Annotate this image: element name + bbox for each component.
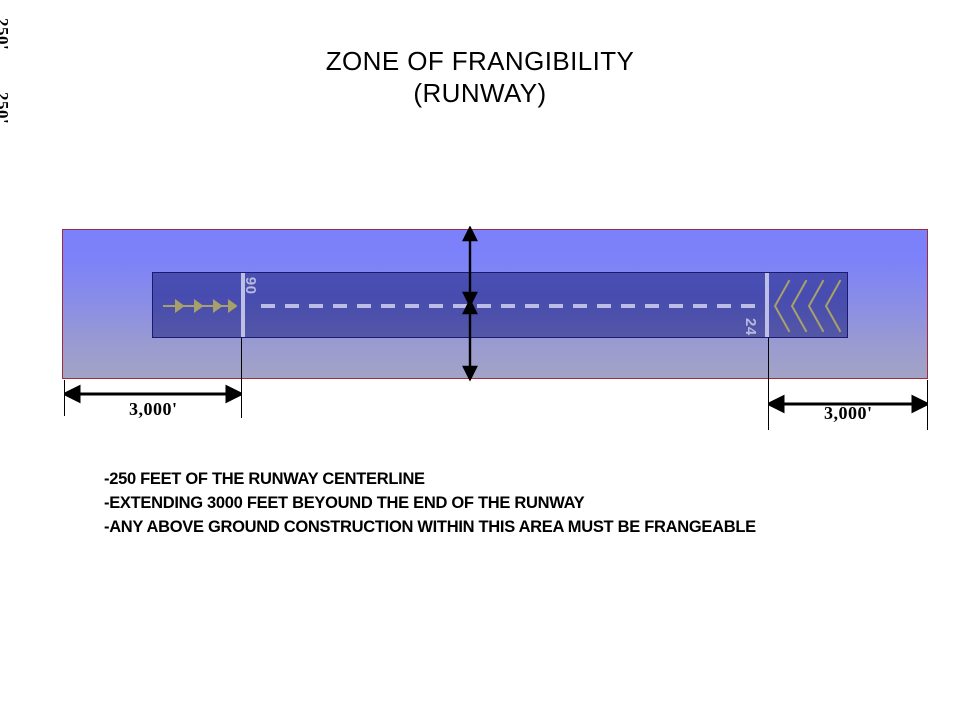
runway-designator-06: 06 (244, 276, 259, 294)
dimension-label-3000-left: 3,000' (129, 400, 178, 418)
note-line: -ANY ABOVE GROUND CONSTRUCTION WITHIN TH… (104, 516, 904, 540)
runway-chevron-markings-icon (773, 279, 843, 333)
runway-threshold-bar-right (765, 273, 769, 337)
note-line: -250 FEET OF THE RUNWAY CENTERLINE (104, 468, 904, 492)
runway-designator-24: 24 (743, 318, 758, 336)
runway-approach-arrows-icon (163, 295, 237, 317)
notes-list: -250 FEET OF THE RUNWAY CENTERLINE -EXTE… (104, 468, 904, 539)
extension-tick-right-runway-end (768, 338, 769, 430)
title-line-primary: ZONE OF FRANGIBILITY (0, 46, 960, 78)
dimension-label-250-upper: 250' (0, 18, 11, 50)
note-line: -EXTENDING 3000 FEET BEYOUND THE END OF … (104, 492, 904, 516)
dimension-label-3000-right: 3,000' (824, 404, 873, 422)
page-title: ZONE OF FRANGIBILITY (RUNWAY) (0, 46, 960, 109)
runway-strip: 06 24 (152, 272, 848, 338)
title-line-secondary: (RUNWAY) (0, 78, 960, 110)
diagram-canvas: ZONE OF FRANGIBILITY (RUNWAY) (0, 0, 960, 720)
dimension-label-250-lower: 250' (0, 92, 11, 124)
runway-centerline-marking (261, 304, 761, 308)
vertical-dimension-group (440, 226, 500, 382)
